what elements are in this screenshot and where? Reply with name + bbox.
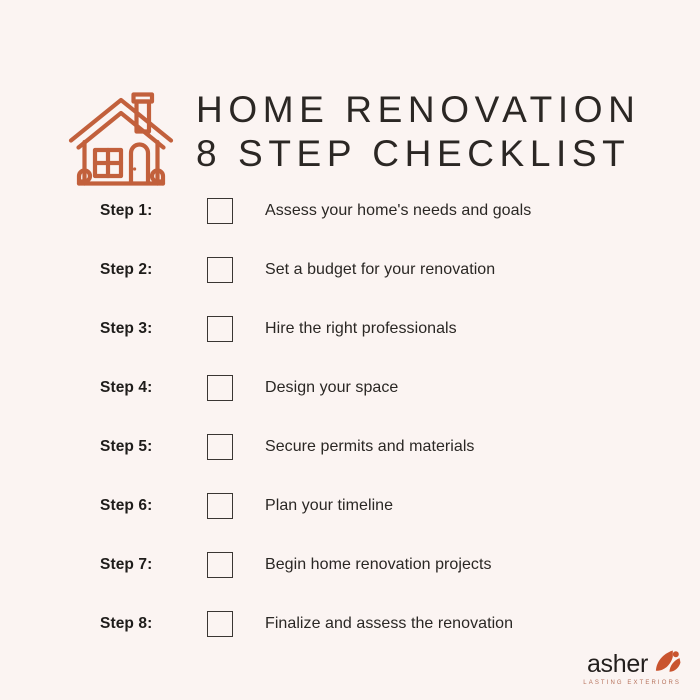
step-text: Assess your home's needs and goals xyxy=(265,202,531,220)
step-text: Set a budget for your renovation xyxy=(265,261,495,279)
step-text: Hire the right professionals xyxy=(265,320,457,338)
step-checkbox[interactable] xyxy=(207,198,233,224)
title-line-1: HOME RENOVATION xyxy=(196,88,666,132)
title-line-2: 8 STEP CHECKLIST xyxy=(196,132,666,176)
step-checkbox[interactable] xyxy=(207,493,233,519)
checklist-row: Step 1:Assess your home's needs and goal… xyxy=(0,181,700,240)
house-icon xyxy=(62,84,180,196)
step-label: Step 5: xyxy=(100,438,200,456)
step-label: Step 2: xyxy=(100,261,200,279)
step-text: Secure permits and materials xyxy=(265,438,475,456)
page-title: HOME RENOVATION 8 STEP CHECKLIST xyxy=(196,88,666,176)
step-text: Design your space xyxy=(265,379,398,397)
step-label: Step 3: xyxy=(100,320,200,338)
checklist-row: Step 6:Plan your timeline xyxy=(0,476,700,535)
page-header: HOME RENOVATION 8 STEP CHECKLIST xyxy=(0,40,700,170)
step-text: Begin home renovation projects xyxy=(265,556,492,574)
checklist-row: Step 8:Finalize and assess the renovatio… xyxy=(0,594,700,653)
logo-wordmark: asher xyxy=(587,651,648,677)
checklist: Step 1:Assess your home's needs and goal… xyxy=(0,181,700,653)
asher-logo: asher LASTING EXTERIORS xyxy=(583,649,682,686)
step-checkbox[interactable] xyxy=(207,257,233,283)
checklist-row: Step 7:Begin home renovation projects xyxy=(0,535,700,594)
checklist-row: Step 4:Design your space xyxy=(0,358,700,417)
step-text: Finalize and assess the renovation xyxy=(265,615,513,633)
logo-tagline: LASTING EXTERIORS xyxy=(583,680,681,686)
checklist-page: HOME RENOVATION 8 STEP CHECKLIST Step 1:… xyxy=(0,0,700,700)
step-checkbox[interactable] xyxy=(207,434,233,460)
step-checkbox[interactable] xyxy=(207,552,233,578)
step-label: Step 6: xyxy=(100,497,200,515)
checklist-row: Step 2:Set a budget for your renovation xyxy=(0,240,700,299)
step-checkbox[interactable] xyxy=(207,611,233,637)
step-label: Step 7: xyxy=(100,556,200,574)
asher-leaf-mark-icon xyxy=(653,649,682,678)
step-text: Plan your timeline xyxy=(265,497,393,515)
step-label: Step 1: xyxy=(100,202,200,220)
step-label: Step 4: xyxy=(100,379,200,397)
checklist-row: Step 5:Secure permits and materials xyxy=(0,417,700,476)
step-checkbox[interactable] xyxy=(207,375,233,401)
logo-main: asher xyxy=(587,649,682,678)
checklist-row: Step 3:Hire the right professionals xyxy=(0,299,700,358)
step-label: Step 8: xyxy=(100,615,200,633)
step-checkbox[interactable] xyxy=(207,316,233,342)
